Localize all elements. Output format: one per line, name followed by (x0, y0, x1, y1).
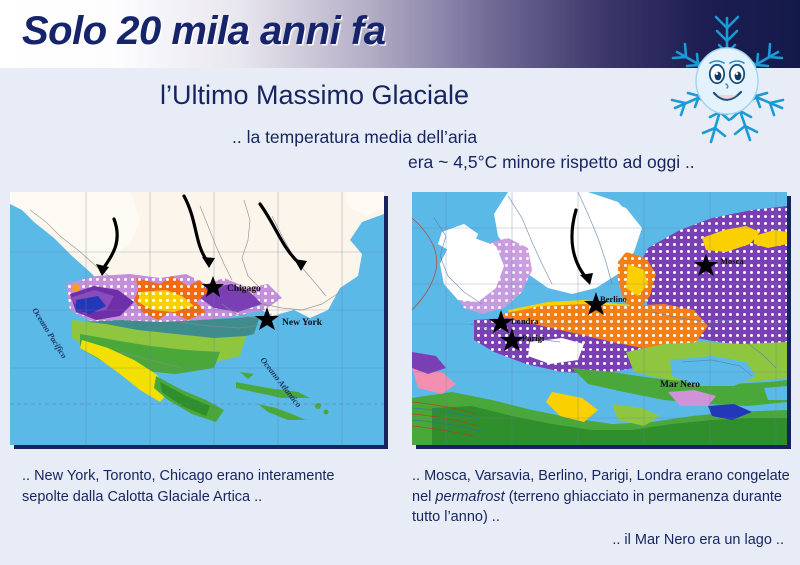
caption-right-extra: .. il Mar Nero era un lago .. (412, 530, 784, 551)
subtitle-secondary: .. la temperatura media dell’aria (232, 127, 477, 148)
city-label-newyork: New York (282, 318, 323, 328)
city-label-londra: Londra (511, 316, 539, 326)
subtitle-tertiary: era ~ 4,5°C minore rispetto ad oggi .. (408, 152, 695, 173)
city-label-mosca: Mosca (720, 256, 744, 266)
caption-right-permafrost: permafrost (435, 489, 504, 505)
snowflake-mascot-icon (655, 8, 800, 153)
subtitle-primary: l’Ultimo Massimo Glaciale (160, 80, 660, 111)
map-europe[interactable]: Mosca Berlino Londra Parigi Mar Nero (412, 192, 787, 445)
city-label-chicago: Chigago (227, 284, 261, 294)
city-label-parigi: Parigi (522, 333, 545, 343)
sea-label-mar-nero: Mar Nero (660, 380, 700, 390)
caption-right: .. Mosca, Varsavia, Berlino, Parigi, Lon… (412, 466, 792, 528)
city-label-berlino: Berlino (600, 294, 627, 304)
caption-left: .. New York, Toronto, Chicago erano inte… (22, 466, 372, 507)
map-north-america[interactable]: Chigago New York Oceano Pacifico Oceano … (10, 192, 384, 445)
page-title: Solo 20 mila anni fa (22, 9, 385, 54)
